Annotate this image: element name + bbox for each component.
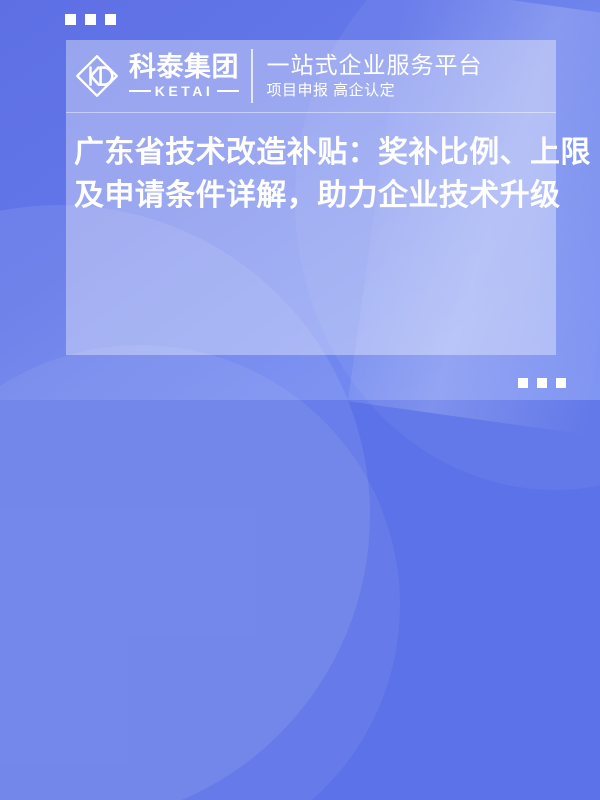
brand-rule-left: [129, 90, 151, 93]
decorative-square-icon: [85, 14, 96, 25]
tagline-secondary: 项目申报 高企认定: [267, 82, 483, 100]
brand-name-latin: KETAI: [155, 84, 213, 98]
decorative-dots-bottom-right: [518, 378, 566, 388]
decorative-square-icon: [556, 378, 566, 388]
decorative-square-icon: [518, 378, 528, 388]
decorative-square-icon: [105, 14, 116, 25]
content-card: 科泰集团 KETAI 一站式企业服务平台 项目申报 高企认定 广东省技术改造补贴…: [66, 40, 556, 355]
article-title: 广东省技术改造补贴：奖补比例、上限及申请条件详解，助力企业技术升级: [66, 132, 594, 217]
brand-rule-right: [217, 90, 239, 93]
brand-name-cn: 科泰集团: [129, 54, 239, 81]
card-header: 科泰集团 KETAI 一站式企业服务平台 项目申报 高企认定: [66, 40, 556, 112]
decorative-square-icon: [65, 14, 76, 25]
header-vertical-divider: [251, 49, 253, 103]
brand-logo[interactable]: 科泰集团 KETAI: [74, 53, 239, 99]
header-bottom-divider: [66, 112, 556, 113]
brand-wordmark: 科泰集团 KETAI: [129, 54, 239, 98]
ketai-diamond-kd-monogram-icon: [74, 53, 120, 99]
tagline-block: 一站式企业服务平台 项目申报 高企认定: [267, 52, 483, 100]
tagline-primary: 一站式企业服务平台: [267, 52, 483, 78]
decorative-square-icon: [537, 378, 547, 388]
decorative-dots-top-left: [65, 14, 116, 25]
brand-latin-row: KETAI: [129, 84, 239, 98]
